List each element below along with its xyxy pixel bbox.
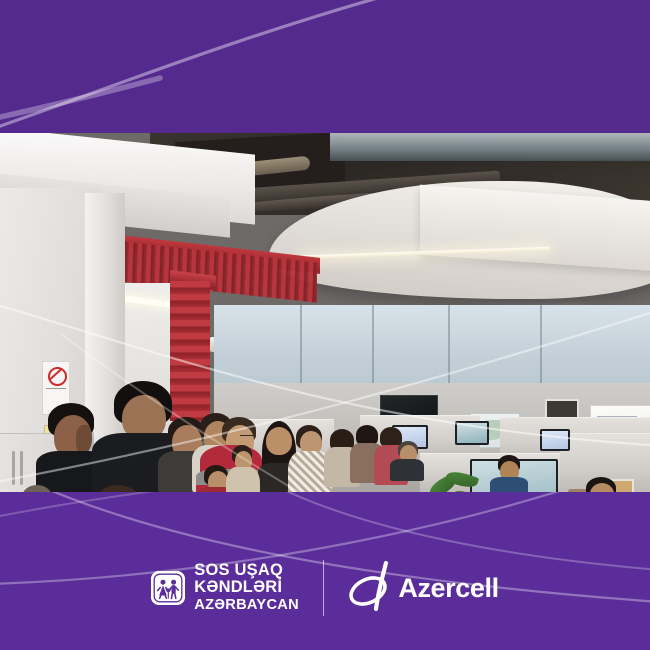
logo-lockup: SOS UŞAQ KƏNDLƏRİ AZƏRBAYCAN Azercell bbox=[0, 552, 650, 624]
monitor-far-center bbox=[455, 421, 489, 445]
header-arc-icon bbox=[0, 0, 650, 133]
sos-line-2: KƏNDLƏRİ bbox=[194, 579, 299, 597]
azercell-wordmark: Azercell bbox=[398, 573, 498, 604]
clerestory-glass-strip bbox=[330, 133, 650, 161]
sos-wordmark: SOS UŞAQ KƏNDLƏRİ AZƏRBAYCAN bbox=[194, 562, 299, 615]
two-children-icon bbox=[151, 571, 185, 605]
office-photo-scene bbox=[0, 133, 650, 493]
poster: SOS UŞAQ KƏNDLƏRİ AZƏRBAYCAN Azercell bbox=[0, 0, 650, 650]
azercell-logo[interactable]: Azercell bbox=[346, 560, 498, 617]
logo-divider bbox=[323, 560, 324, 616]
monitor-far-right bbox=[540, 429, 570, 451]
cabinet-handle-1 bbox=[12, 451, 15, 485]
eyeglasses-icon bbox=[240, 435, 256, 440]
sos-line-1: SOS UŞAQ bbox=[194, 562, 299, 580]
top-purple-header bbox=[0, 0, 650, 133]
office-photo bbox=[0, 133, 650, 493]
cabinet-handle-2 bbox=[20, 451, 23, 485]
azercell-a-loop-mark bbox=[346, 560, 396, 617]
sos-childrens-villages-logo[interactable]: SOS UŞAQ KƏNDLƏRİ AZƏRBAYCAN bbox=[151, 562, 299, 615]
sos-line-3: AZƏRBAYCAN bbox=[194, 597, 299, 615]
red-slat-column bbox=[170, 281, 210, 421]
